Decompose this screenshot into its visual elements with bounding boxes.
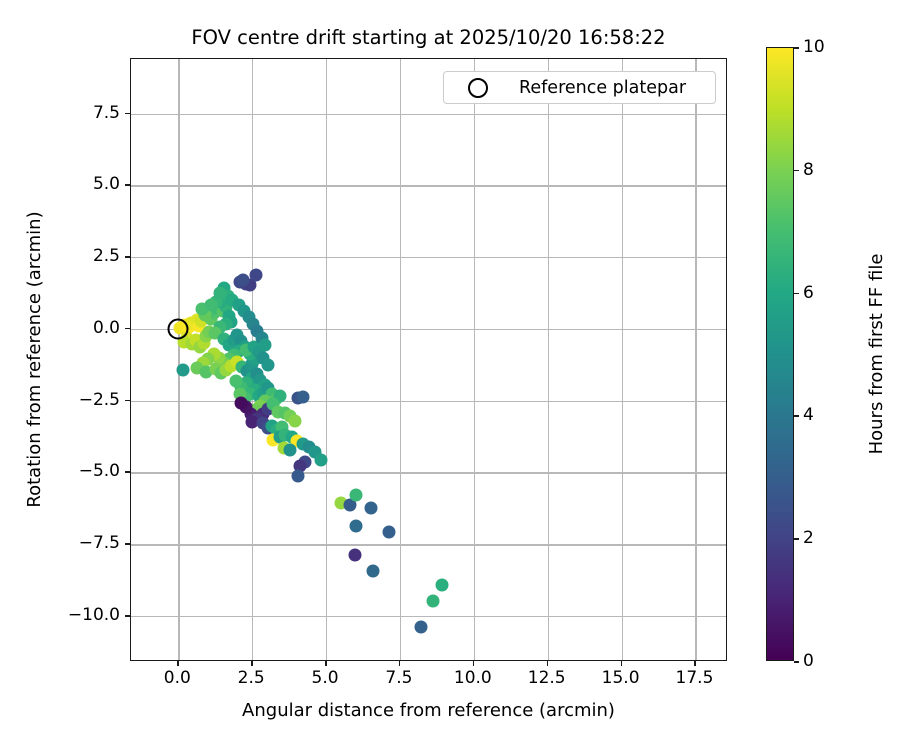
plot-area	[130, 58, 727, 661]
scatter-point	[204, 298, 217, 311]
gridline-horizontal	[131, 185, 726, 186]
gridline-vertical	[622, 59, 623, 660]
scatter-point	[176, 363, 189, 376]
colorbar-tick-label: 8	[803, 160, 814, 180]
x-tick-label: 17.5	[676, 668, 714, 688]
colorbar-tick-mark	[794, 170, 799, 172]
y-tick-mark	[125, 328, 130, 330]
x-tick-mark	[621, 661, 623, 666]
y-tick-label: −5.0	[79, 461, 120, 481]
reference-platepar-marker-icon	[468, 78, 488, 98]
scatter-point	[297, 391, 310, 404]
x-tick-mark	[473, 661, 475, 666]
y-tick-label: 2.5	[93, 246, 120, 266]
gridline-horizontal	[131, 114, 726, 115]
matplotlib-figure: FOV centre drift starting at 2025/10/20 …	[0, 0, 900, 750]
scatter-point	[435, 579, 448, 592]
gridline-horizontal	[131, 401, 726, 402]
scatter-point	[291, 469, 304, 482]
x-tick-label: 7.5	[385, 668, 412, 688]
scatter-point	[229, 375, 242, 388]
scatter-point	[427, 595, 440, 608]
gridline-horizontal	[131, 257, 726, 258]
colorbar-tick-label: 10	[803, 37, 825, 57]
colorbar-tick-mark	[794, 661, 799, 663]
x-tick-label: 12.5	[528, 668, 566, 688]
x-tick-label: 10.0	[454, 668, 492, 688]
x-tick-label: 5.0	[312, 668, 339, 688]
y-tick-mark	[125, 471, 130, 473]
colorbar	[766, 47, 794, 661]
colorbar-tick-mark	[794, 293, 799, 295]
scatter-point	[261, 358, 274, 371]
scatter-point	[415, 620, 428, 633]
page-title: FOV centre drift starting at 2025/10/20 …	[130, 26, 727, 49]
scatter-point	[259, 338, 272, 351]
x-axis-label: Angular distance from reference (arcmin)	[130, 700, 727, 721]
scatter-point	[364, 502, 377, 515]
scatter-point	[366, 564, 379, 577]
scatter-point	[314, 454, 327, 467]
colorbar-tick-mark	[794, 415, 799, 417]
y-tick-mark	[125, 543, 130, 545]
gridline-horizontal	[131, 616, 726, 617]
y-tick-label: 5.0	[93, 174, 120, 194]
gridline-vertical	[695, 59, 696, 660]
colorbar-tick-mark	[794, 47, 799, 49]
reference-platepar-point	[168, 318, 189, 339]
x-tick-mark	[399, 661, 401, 666]
legend-item-label: Reference platepar	[519, 78, 686, 98]
scatter-point	[350, 519, 363, 532]
scatter-point	[249, 268, 262, 281]
gridline-horizontal	[131, 472, 726, 473]
colorbar-tick-label: 2	[803, 528, 814, 548]
y-tick-label: 0.0	[93, 318, 120, 338]
gridline-vertical	[400, 59, 401, 660]
x-tick-mark	[251, 661, 253, 666]
gridline-horizontal	[131, 544, 726, 545]
scatter-point	[284, 444, 297, 457]
scatter-point	[236, 273, 249, 286]
gridline-vertical	[326, 59, 327, 660]
colorbar-tick-label: 6	[803, 283, 814, 303]
x-tick-label: 0.0	[164, 668, 191, 688]
y-tick-label: −7.5	[79, 533, 120, 553]
y-tick-mark	[125, 615, 130, 617]
legend[interactable]: Reference platepar	[443, 71, 716, 104]
y-tick-mark	[125, 400, 130, 402]
y-tick-label: −2.5	[79, 390, 120, 410]
colorbar-label: Hours from first FF file	[866, 47, 887, 661]
gridline-vertical	[474, 59, 475, 660]
scatter-point	[382, 526, 395, 539]
y-tick-mark	[125, 113, 130, 115]
y-tick-label: −10.0	[68, 605, 120, 625]
x-tick-mark	[694, 661, 696, 666]
y-tick-mark	[125, 256, 130, 258]
colorbar-tick-label: 0	[803, 651, 814, 671]
y-axis-label: Rotation from reference (arcmin)	[24, 58, 45, 661]
scatter-point	[289, 415, 302, 428]
y-tick-label: 7.5	[93, 103, 120, 123]
colorbar-tick-mark	[794, 538, 799, 540]
x-tick-label: 2.5	[238, 668, 265, 688]
x-tick-mark	[177, 661, 179, 666]
x-tick-mark	[325, 661, 327, 666]
y-tick-mark	[125, 184, 130, 186]
scatter-point	[349, 549, 362, 562]
gridline-vertical	[548, 59, 549, 660]
colorbar-tick-label: 4	[803, 405, 814, 425]
x-tick-label: 15.0	[602, 668, 640, 688]
scatter-point	[234, 396, 247, 409]
x-tick-mark	[547, 661, 549, 666]
scatter-point	[350, 488, 363, 501]
gridline-vertical	[178, 59, 179, 660]
